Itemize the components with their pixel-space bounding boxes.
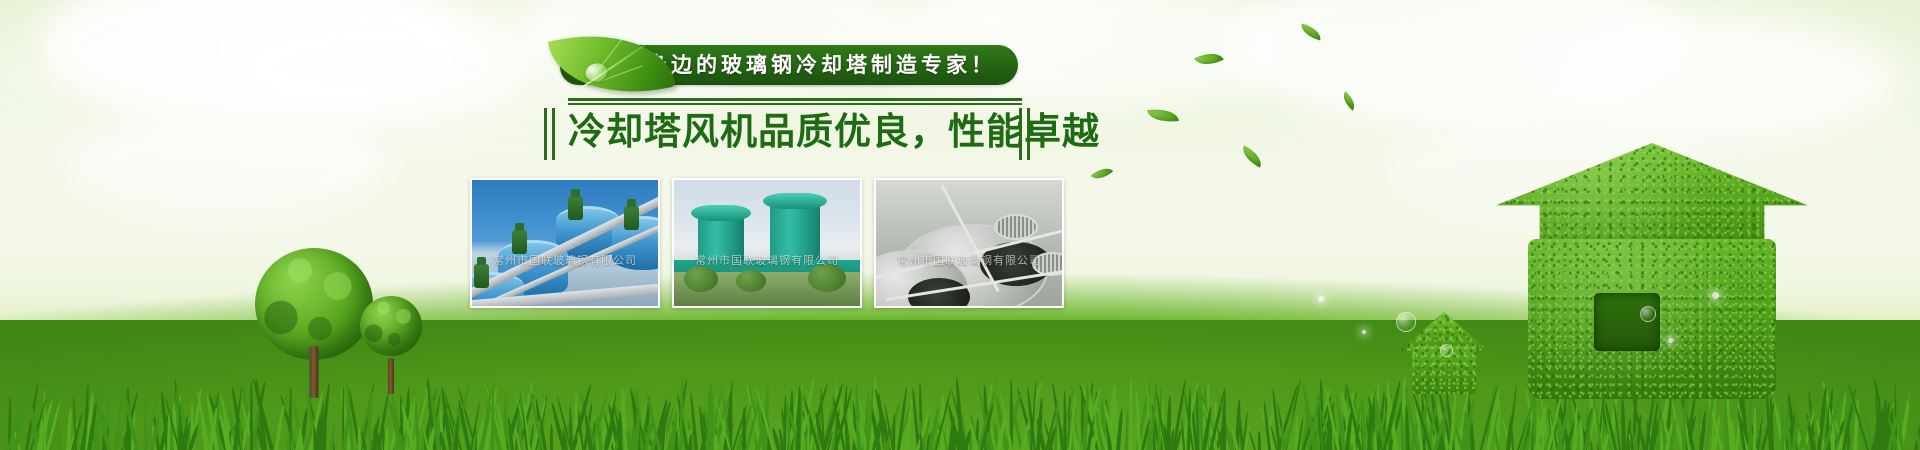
- leaf-icon: [548, 18, 676, 111]
- cloud-shape: [40, 0, 460, 120]
- cloud-shape: [1560, 20, 1900, 140]
- product-photo-blue-frp-cooling-towers[interactable]: 常州市国联玻璃钢有限公司: [470, 178, 660, 308]
- photo-watermark: 常州市国联玻璃钢有限公司: [674, 252, 860, 268]
- tower-cap: [691, 205, 751, 221]
- flying-leaf-icon: [1299, 24, 1323, 41]
- product-photo-steel-counterflow-cooling-towers[interactable]: 常州市国联玻璃钢有限公司: [874, 178, 1064, 308]
- flying-leaf-icon: [1091, 163, 1113, 184]
- cloud-shape: [1230, 0, 1690, 125]
- tree-trunk: [310, 346, 319, 398]
- tagline: 您身边的玻璃钢冷却塔制造专家！: [560, 44, 1018, 86]
- tree-crown: [255, 248, 373, 360]
- tagline-ribbon: 您身边的玻璃钢冷却塔制造专家！: [560, 45, 1018, 85]
- bush-icon: [684, 266, 718, 292]
- product-photo-teal-cooling-tower-plant[interactable]: 常州市国联玻璃钢有限公司: [672, 178, 862, 308]
- bubble-icon: [1440, 344, 1453, 357]
- tree-icon: [255, 248, 373, 398]
- tagline-text: 您身边的玻璃钢冷却塔制造专家！: [621, 55, 996, 76]
- tree-icon: [360, 298, 422, 394]
- bubble-icon: [1640, 306, 1656, 322]
- fan-motor: [624, 206, 639, 230]
- hero-banner: 您身边的玻璃钢冷却塔制造专家！ 冷却塔风机品质优良，性能卓越: [0, 0, 1920, 450]
- product-photo-gallery: 常州市国联玻璃钢有限公司 常州市国联玻璃钢有限公司: [470, 178, 1064, 308]
- flying-leaf-icon: [1339, 91, 1359, 110]
- photo-scene: [674, 180, 860, 306]
- house-window: [1594, 293, 1660, 351]
- sparkle-icon: [1712, 292, 1719, 299]
- cloud-shape: [230, 10, 530, 120]
- grass-house-icon: [1502, 143, 1802, 398]
- photo-watermark: 常州市国联玻璃钢有限公司: [472, 252, 658, 268]
- tree-trunk: [388, 358, 394, 394]
- sparkle-icon: [1318, 296, 1324, 302]
- headline: 冷却塔风机品质优良，性能卓越: [522, 98, 1022, 160]
- cloud-shape: [60, 110, 390, 220]
- photo-watermark: 常州市国联玻璃钢有限公司: [876, 252, 1062, 268]
- headline-bar: [544, 108, 555, 160]
- sparkle-icon: [1362, 330, 1366, 334]
- fan-motor: [568, 196, 583, 220]
- headline-text: 冷却塔风机品质优良，性能卓越: [568, 106, 1008, 158]
- dewdrop-icon: [584, 61, 609, 83]
- flying-leaf-icon: [1194, 47, 1224, 71]
- photo-scene: [472, 180, 658, 306]
- bush-icon: [736, 270, 766, 292]
- flying-leaf-icon: [1238, 145, 1265, 167]
- tree-crown: [360, 296, 422, 356]
- bubble-icon: [1396, 312, 1416, 332]
- flying-leaf-icon: [1147, 106, 1179, 125]
- fan-motor: [512, 230, 527, 254]
- photo-scene: [876, 180, 1062, 306]
- bush-icon: [808, 264, 846, 292]
- tower-cap: [763, 193, 827, 209]
- headline-rule: [568, 98, 1022, 105]
- sparkle-icon: [1668, 338, 1673, 343]
